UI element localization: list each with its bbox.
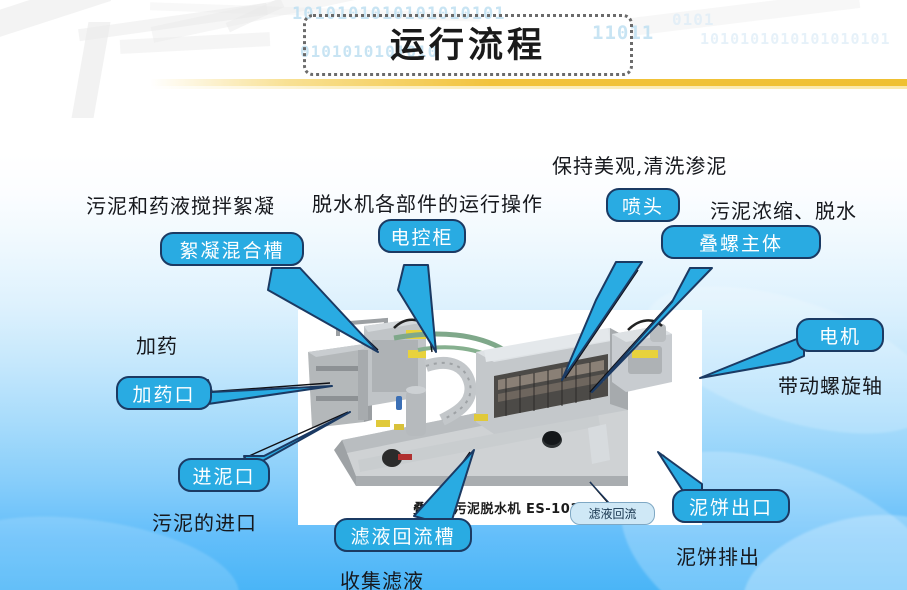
callout-spray-nozzle[interactable]: 喷头 (606, 188, 680, 222)
callout-flocculation-tank-label: 絮凝混合槽 (179, 236, 284, 263)
callout-spray-nozzle-label: 喷头 (622, 192, 664, 219)
tail-dosing-port (208, 380, 332, 404)
tail-nozzle (562, 262, 642, 380)
tail-motor (700, 336, 804, 378)
callout-sludge-inlet-label: 进泥口 (192, 462, 255, 489)
callout-dosing-port[interactable]: 加药口 (116, 376, 212, 410)
tail-control-cabinet (398, 265, 436, 352)
callout-screw-body[interactable]: 叠螺主体 (661, 225, 821, 259)
callout-control-cabinet[interactable]: 电控柜 (378, 219, 466, 253)
callout-motor-label: 电机 (819, 322, 861, 349)
callout-control-cabinet-label: 电控柜 (390, 223, 453, 250)
callout-dosing-port-label: 加药口 (132, 380, 195, 407)
tail-flocculation (268, 268, 378, 352)
callout-flocculation-tank[interactable]: 絮凝混合槽 (160, 232, 304, 266)
callout-cake-outlet-label: 泥饼出口 (689, 493, 773, 520)
callout-sludge-inlet[interactable]: 进泥口 (178, 458, 270, 492)
tail-filtrate-channel (414, 450, 474, 520)
reflux-tag: 滤液回流 (570, 502, 655, 525)
callout-motor[interactable]: 电机 (796, 318, 884, 352)
slide-canvas: 1010101010101010101 0101010101010 11011 … (0, 0, 907, 590)
callout-filtrate-channel-label: 滤液回流槽 (350, 522, 455, 549)
callout-cake-outlet[interactable]: 泥饼出口 (672, 489, 790, 523)
callout-filtrate-channel[interactable]: 滤液回流槽 (334, 518, 472, 552)
callout-screw-body-label: 叠螺主体 (699, 229, 783, 256)
